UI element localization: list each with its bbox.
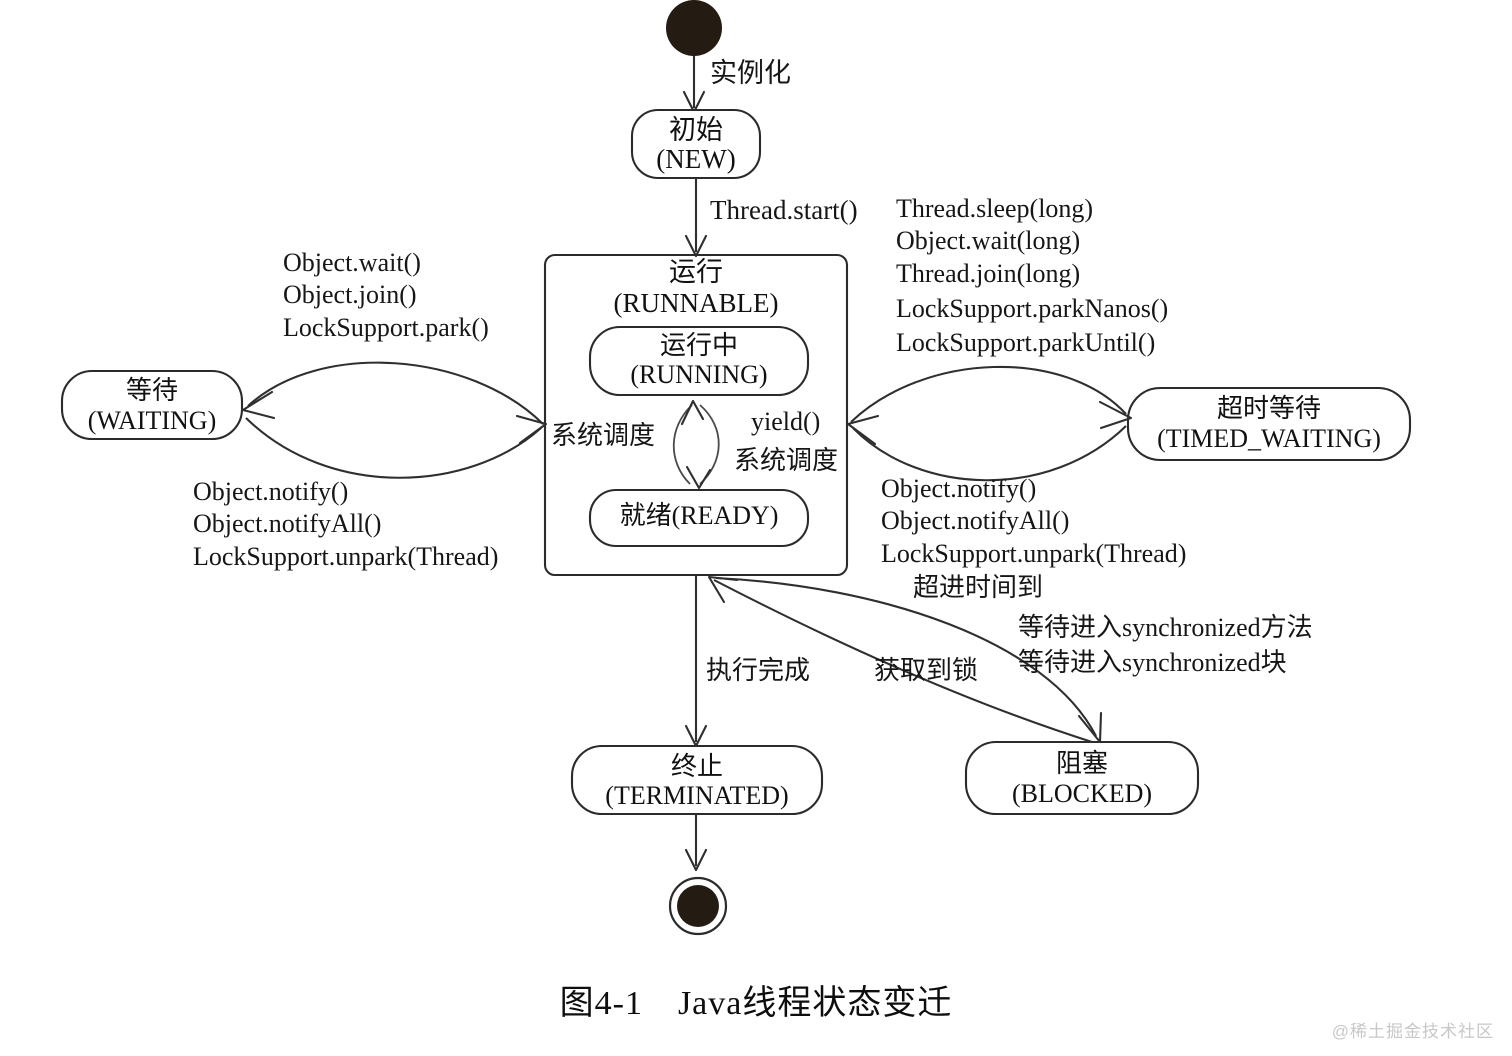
edge-runnable-to-timed [851, 367, 1131, 428]
edge-label-thread-start: Thread.start() [710, 195, 858, 225]
edge-start-to-new [684, 56, 704, 112]
state-node-waiting: 等待 (WAITING) [62, 371, 242, 439]
watermark-text: @稀土掘金技术社区 [1332, 1017, 1494, 1042]
edge-terminated-to-final [686, 814, 706, 870]
figure-caption: 图4-1 Java线程状态变迁 [0, 975, 1512, 1024]
state-waiting-cn: 等待 [126, 376, 178, 405]
state-runnable-en: (RUNNABLE) [614, 288, 779, 318]
edge-waiting-to-runnable [246, 416, 546, 478]
edge-label-from-blocked: 获取到锁 [874, 656, 978, 685]
state-blocked-en: (BLOCKED) [1012, 779, 1152, 808]
thread-state-diagram: 初始 (NEW) 运行 (RUNNABLE) 运行中 (RUNNING) 就绪(… [0, 0, 1512, 1056]
edge-label-from-timed-3: LockSupport.unpark(Thread) [881, 539, 1186, 568]
state-new-en: (NEW) [656, 144, 735, 174]
state-node-timed-waiting: 超时等待 (TIMED_WAITING) [1128, 388, 1410, 460]
edge-label-from-waiting-3: LockSupport.unpark(Thread) [193, 542, 498, 571]
state-blocked-cn: 阻塞 [1056, 749, 1108, 778]
diagram-canvas: 初始 (NEW) 运行 (RUNNABLE) 运行中 (RUNNING) 就绪(… [0, 0, 1512, 1056]
edge-label-to-timed-4: LockSupport.parkNanos() [896, 294, 1168, 323]
edge-running-ready-loop [674, 401, 719, 488]
state-node-new: 初始 (NEW) [632, 110, 760, 178]
state-running-en: (RUNNING) [630, 360, 767, 389]
edge-runnable-to-terminated [686, 576, 706, 746]
state-terminated-cn: 终止 [671, 752, 723, 781]
edge-label-to-timed-1: Thread.sleep(long) [896, 194, 1093, 223]
state-new-cn: 初始 [669, 115, 723, 145]
edge-label-from-timed-2: Object.notifyAll() [881, 506, 1069, 535]
state-node-blocked: 阻塞 (BLOCKED) [966, 742, 1198, 814]
edge-label-yield: yield() [751, 407, 820, 436]
state-running-cn: 运行中 [660, 331, 738, 360]
edge-label-to-blocked-2: 等待进入synchronized块 [1018, 648, 1287, 677]
state-timed-en: (TIMED_WAITING) [1157, 424, 1381, 453]
state-node-ready: 就绪(READY) [590, 490, 808, 546]
edge-label-to-timed-2: Object.wait(long) [896, 226, 1080, 255]
edge-label-done: 执行完成 [706, 656, 810, 685]
initial-state-node [666, 0, 722, 56]
edge-label-from-waiting-1: Object.notify() [193, 477, 348, 506]
state-node-terminated: 终止 (TERMINATED) [572, 746, 822, 814]
edge-new-to-runnable [686, 178, 706, 256]
state-terminated-en: (TERMINATED) [605, 781, 788, 810]
final-state-node [670, 878, 726, 934]
state-timed-cn: 超时等待 [1217, 394, 1321, 423]
state-waiting-en: (WAITING) [88, 406, 217, 435]
edge-label-from-timed-1: Object.notify() [881, 474, 1036, 503]
edge-runnable-to-waiting [243, 363, 543, 424]
edge-label-to-timed-3: Thread.join(long) [896, 259, 1080, 288]
edge-timed-to-runnable [848, 416, 1126, 480]
edge-label-sched-left: 系统调度 [551, 421, 655, 450]
edge-label-to-waiting-1: Object.wait() [283, 248, 421, 277]
state-ready-label: 就绪(READY) [620, 501, 779, 530]
edge-label-to-waiting-3: LockSupport.park() [283, 313, 489, 342]
state-runnable-cn: 运行 [669, 257, 723, 287]
state-node-running: 运行中 (RUNNING) [590, 327, 808, 395]
edge-label-from-timed-4: 超进时间到 [913, 573, 1043, 602]
state-node-runnable: 运行 (RUNNABLE) 运行中 (RUNNING) 就绪(READY) 系统… [545, 255, 847, 575]
edge-label-from-waiting-2: Object.notifyAll() [193, 509, 381, 538]
edge-label-instantiate: 实例化 [710, 58, 791, 88]
edge-label-to-waiting-2: Object.join() [283, 280, 417, 309]
edge-label-to-timed-5: LockSupport.parkUntil() [896, 328, 1155, 357]
edge-label-to-blocked-1: 等待进入synchronized方法 [1018, 613, 1313, 642]
edge-label-sched-right: 系统调度 [734, 446, 838, 475]
